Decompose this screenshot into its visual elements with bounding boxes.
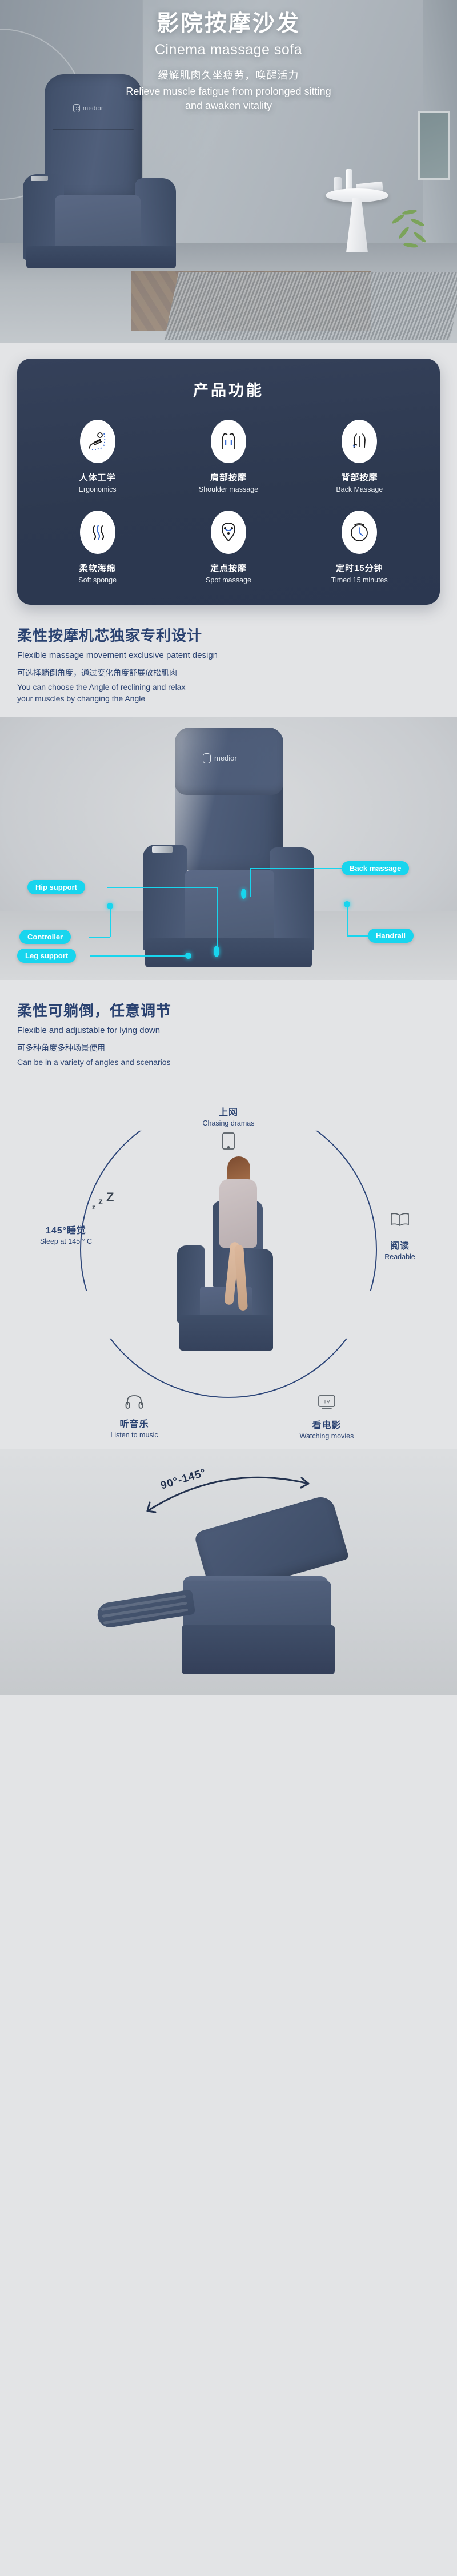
callout-label: Back massage	[342, 861, 409, 875]
spot-massage-pin-icon	[211, 511, 246, 554]
scenario-watching-movies[interactable]: TV 看电影 Watching movies	[281, 1394, 372, 1440]
recline-angle-diagram: 90°-145°	[0, 1449, 457, 1695]
shoulder-massage-icon	[211, 420, 246, 463]
scenario-label-en: Chasing dramas	[189, 1119, 268, 1127]
chair-controller	[31, 176, 48, 181]
callout-leader-line	[107, 887, 217, 888]
hero-title-cn: 影院按摩沙发	[0, 10, 457, 38]
scenario-label-en: Listen to music	[91, 1431, 177, 1439]
scenario-label-cn: 听音乐	[91, 1416, 177, 1430]
feature-item-back-massage[interactable]: 背部按摩 Back Massage	[294, 420, 425, 493]
side-table	[326, 188, 388, 263]
scenario-chasing-dramas[interactable]: 上网 Chasing dramas	[189, 1104, 268, 1153]
feature-label-en: Timed 15 minutes	[294, 576, 425, 584]
feature-item-soft-sponge[interactable]: 柔软海绵 Soft sponge	[32, 511, 163, 584]
patent-body-en-line2: your muscles by changing the Angle	[17, 693, 440, 704]
potted-plant	[385, 206, 436, 274]
feature-label-en: Back Massage	[294, 485, 425, 493]
feature-label-cn: 人体工学	[32, 471, 163, 483]
feature-label-cn: 定时15分钟	[294, 562, 425, 574]
callout-leader-line	[217, 887, 218, 951]
hero-subtitle-en-line1: Relieve muscle fatigue from prolonged si…	[0, 85, 457, 99]
striped-rug	[164, 272, 457, 340]
callout-anchor-dot	[185, 953, 191, 959]
tv-icon: TV	[281, 1394, 372, 1413]
adjustable-section: 柔性可躺倒，任意调节 Flexible and adjustable for l…	[0, 980, 457, 1068]
zzz-icon: z	[92, 1203, 95, 1211]
callout-leg-support[interactable]: Leg support	[17, 949, 76, 963]
scenario-readable[interactable]: 阅读 Readable	[360, 1212, 440, 1261]
callout-leader-line	[347, 906, 348, 937]
patent-body-cn: 可选择躺倒角度，通过变化角度舒展放松肌肉	[17, 667, 440, 679]
patent-body-en-line1: You can choose the Angle of reclining an…	[17, 681, 440, 693]
feature-label-en: Soft sponge	[32, 576, 163, 584]
usage-scenarios-diagram: 上网 Chasing dramas 阅读 Readable 145°睡觉	[0, 1078, 457, 1444]
scenario-label-en: Readable	[360, 1253, 440, 1261]
adjustable-heading-cn: 柔性可躺倒，任意调节	[17, 999, 440, 1020]
leg-rest	[96, 1589, 196, 1629]
callout-controller[interactable]: Controller	[19, 930, 71, 944]
scenario-label-en: Sleep at 145 ° C	[16, 1237, 116, 1245]
hero-subtitle-cn: 缓解肌肉久坐疲劳，唤醒活力	[0, 67, 457, 82]
patent-heading-cn: 柔性按摩机芯独家专利设计	[17, 624, 440, 645]
feature-item-shoulder-massage[interactable]: 肩部按摩 Shoulder massage	[163, 420, 294, 493]
feature-item-timer[interactable]: 定时15分钟 Timed 15 minutes	[294, 511, 425, 584]
annotated-chair-diagram: medior Back massage Hip support Controll…	[0, 717, 457, 980]
callout-anchor-dot	[241, 889, 246, 899]
back-massage-icon	[342, 420, 377, 463]
callout-leader-line	[250, 868, 251, 897]
feature-label-en: Ergonomics	[32, 485, 163, 493]
reclined-chair-side-view	[97, 1512, 366, 1678]
features-title: 产品功能	[32, 378, 425, 400]
scenario-listen-music[interactable]: 听音乐 Listen to music	[91, 1394, 177, 1439]
product-features-section: 产品功能 人体工学 Ergonomics	[0, 343, 457, 605]
headphones-icon	[91, 1394, 177, 1412]
feature-label-cn: 柔软海绵	[32, 562, 163, 574]
zzz-icon: Z	[106, 1190, 114, 1205]
callout-hip-support[interactable]: Hip support	[27, 880, 85, 894]
callout-back-massage[interactable]: Back massage	[342, 861, 409, 875]
scenario-label-cn: 145°睡觉	[16, 1223, 116, 1236]
scenario-label-cn: 看电影	[281, 1417, 372, 1431]
callout-anchor-dot	[214, 946, 219, 957]
features-grid: 人体工学 Ergonomics 肩部按摩 Shoulde	[32, 420, 425, 584]
controller-remote	[152, 846, 173, 853]
scenario-label-en: Watching movies	[281, 1432, 372, 1440]
callout-leader-line	[110, 907, 111, 937]
medior-logo-mark	[203, 753, 211, 763]
callout-label: Handrail	[368, 929, 414, 943]
wall-picture	[418, 111, 450, 180]
zzz-icon: z	[98, 1197, 103, 1207]
timer-clock-icon	[342, 511, 377, 554]
product-detail-page: medior 影院按摩沙发 Cinema massage sofa 缓解肌肉久坐…	[0, 0, 457, 1695]
callout-handrail[interactable]: Handrail	[368, 929, 414, 943]
scenario-label-cn: 上网	[189, 1104, 268, 1118]
patent-heading-en: Flexible massage movement exclusive pate…	[17, 650, 440, 660]
callout-label: Controller	[19, 930, 71, 944]
callout-anchor-dot	[344, 901, 350, 907]
callout-label: Leg support	[17, 949, 76, 963]
tablet-icon	[189, 1132, 268, 1153]
feature-label-cn: 定点按摩	[163, 562, 294, 574]
adjustable-heading-en: Flexible and adjustable for lying down	[17, 1026, 440, 1035]
chair-with-person-image	[177, 1201, 283, 1372]
chair-front-view: medior	[137, 728, 320, 967]
callout-leader-line	[347, 935, 370, 937]
scenario-label-cn: 阅读	[360, 1238, 440, 1252]
adjustable-body-cn: 可多种角度多种场景使用	[17, 1042, 440, 1054]
feature-label-cn: 肩部按摩	[163, 471, 294, 483]
adjustable-body-en: Can be in a variety of angles and scenar…	[17, 1056, 440, 1068]
callout-leader-line	[89, 937, 110, 938]
soft-sponge-icon	[80, 511, 115, 554]
patent-design-section: 柔性按摩机芯独家专利设计 Flexible massage movement e…	[0, 605, 457, 705]
callout-leader-line	[90, 955, 187, 957]
callout-label: Hip support	[27, 880, 85, 894]
hero-banner: medior 影院按摩沙发 Cinema massage sofa 缓解肌肉久坐…	[0, 0, 457, 343]
svg-text:TV: TV	[323, 1398, 330, 1404]
hero-subtitle-en-line2: and awaken vitality	[0, 99, 457, 113]
hero-text-block: 影院按摩沙发 Cinema massage sofa 缓解肌肉久坐疲劳，唤醒活力…	[0, 10, 457, 112]
scenario-sleep[interactable]: 145°睡觉 Sleep at 145 ° C	[16, 1223, 116, 1245]
feature-label-cn: 背部按摩	[294, 471, 425, 483]
ergonomic-seat-icon	[80, 420, 115, 463]
chair-brand-logo: medior	[203, 753, 237, 763]
open-book-icon	[360, 1212, 440, 1230]
feature-label-en: Shoulder massage	[163, 485, 294, 493]
feature-item-spot-massage[interactable]: 定点按摩 Spot massage	[163, 511, 294, 584]
callout-anchor-dot	[107, 903, 113, 909]
callout-leader-line	[250, 868, 342, 869]
brand-name: medior	[214, 754, 237, 762]
feature-item-ergonomics[interactable]: 人体工学 Ergonomics	[32, 420, 163, 493]
features-card: 产品功能 人体工学 Ergonomics	[17, 359, 440, 605]
hero-title-en: Cinema massage sofa	[0, 42, 457, 58]
seated-person	[207, 1156, 270, 1328]
feature-label-en: Spot massage	[163, 576, 294, 584]
